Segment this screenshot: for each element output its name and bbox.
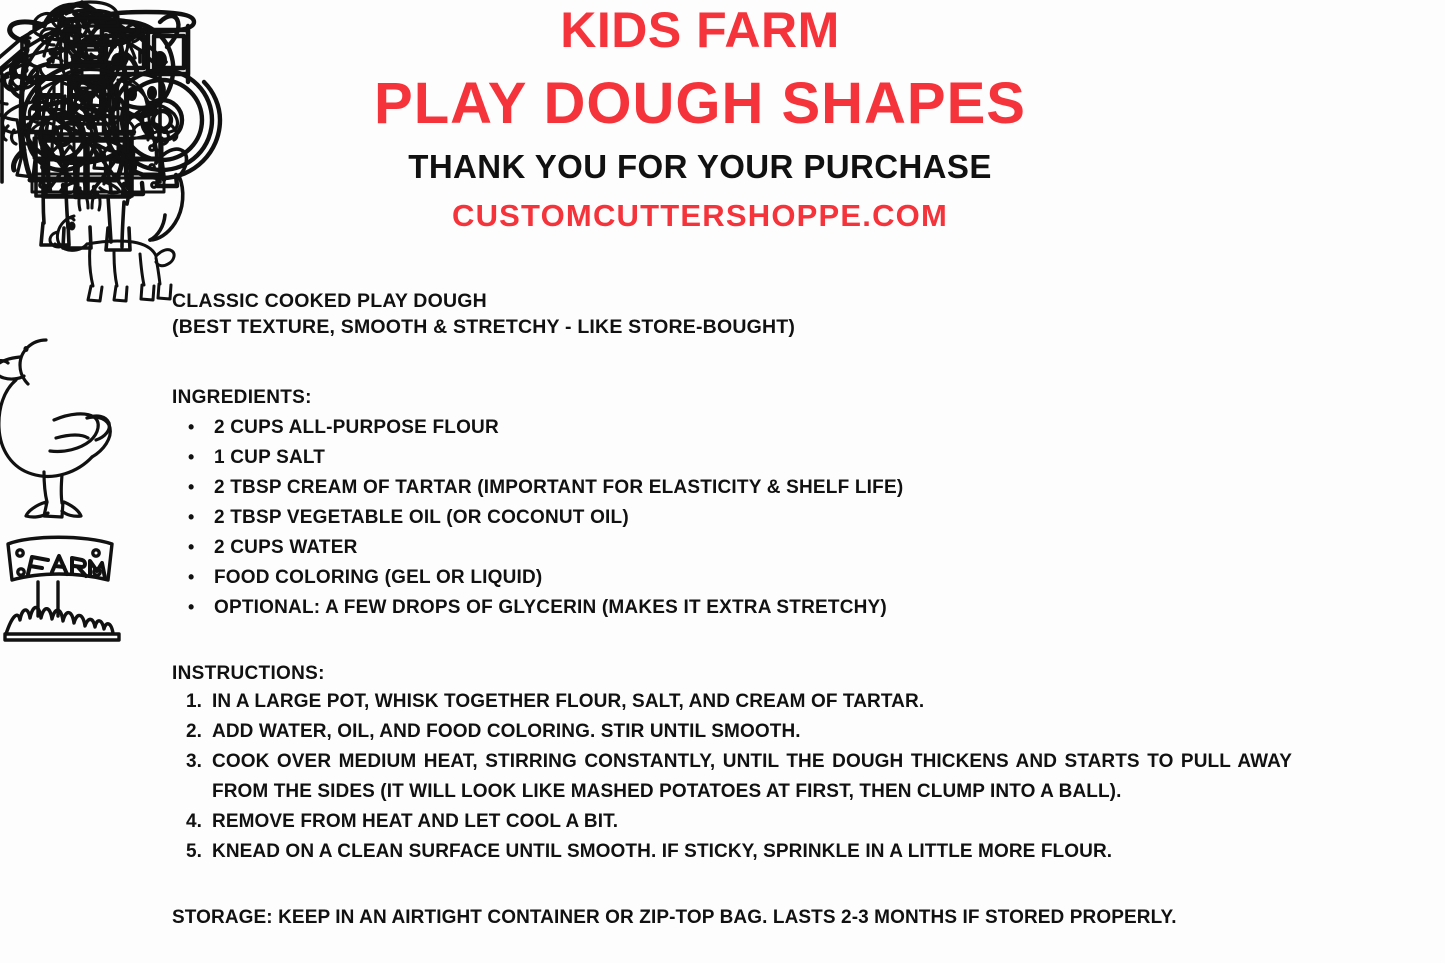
- recipe-content: CLASSIC COOKED PLAY DOUGH (BEST TEXTURE,…: [172, 288, 1292, 933]
- flyer-page: KIDS FARM PLAY DOUGH SHAPES THANK YOU FO…: [0, 0, 1445, 963]
- list-item: IN A LARGE POT, WHISK TOGETHER FLOUR, SA…: [172, 687, 1292, 717]
- scarecrow-icon: [0, 0, 182, 185]
- ingredients-heading: INGREDIENTS:: [172, 387, 1292, 409]
- list-item: 2 CUPS WATER: [172, 533, 1292, 563]
- page-title-line1: KIDS FARM: [170, 4, 1230, 57]
- instructions-list: IN A LARGE POT, WHISK TOGETHER FLOUR, SA…: [172, 687, 1292, 867]
- list-item: FOOD COLORING (GEL OR LIQUID): [172, 563, 1292, 593]
- list-item: COOK OVER MEDIUM HEAT, STIRRING CONSTANT…: [172, 747, 1292, 807]
- website-url: CUSTOMCUTTERSHOPPE.COM: [170, 198, 1230, 234]
- page-title-line2: PLAY DOUGH SHAPES: [170, 73, 1230, 134]
- instructions-heading: INSTRUCTIONS:: [172, 663, 1292, 685]
- header: KIDS FARM PLAY DOUGH SHAPES THANK YOU FO…: [170, 4, 1230, 234]
- ingredients-section: INGREDIENTS: 2 CUPS ALL-PURPOSE FLOUR 1 …: [172, 387, 1292, 623]
- farm-sign-icon: [2, 512, 134, 642]
- list-item: ADD WATER, OIL, AND FOOD COLORING. STIR …: [172, 717, 1292, 747]
- list-item: 2 CUPS ALL-PURPOSE FLOUR: [172, 413, 1292, 443]
- thank-you-message: THANK YOU FOR YOUR PURCHASE: [170, 148, 1230, 186]
- list-item: REMOVE FROM HEAT AND LET COOL A BIT.: [172, 807, 1292, 837]
- list-item: 2 TBSP VEGETABLE OIL (OR COCONUT OIL): [172, 503, 1292, 533]
- recipe-description: (BEST TEXTURE, SMOOTH & STRETCHY - LIKE …: [172, 314, 1292, 340]
- recipe-title: CLASSIC COOKED PLAY DOUGH: [172, 288, 1292, 314]
- list-item: 2 TBSP CREAM OF TARTAR (IMPORTANT FOR EL…: [172, 473, 1292, 503]
- instructions-section: INSTRUCTIONS: IN A LARGE POT, WHISK TOGE…: [172, 663, 1292, 867]
- ingredients-list: 2 CUPS ALL-PURPOSE FLOUR 1 CUP SALT 2 TB…: [172, 413, 1292, 623]
- list-item: 1 CUP SALT: [172, 443, 1292, 473]
- storage-note: STORAGE: KEEP IN AN AIRTIGHT CONTAINER O…: [172, 903, 1284, 933]
- duck-icon: [0, 320, 144, 520]
- list-item: OPTIONAL: A FEW DROPS OF GLYCERIN (MAKES…: [172, 593, 1292, 623]
- list-item: KNEAD ON A CLEAN SURFACE UNTIL SMOOTH. I…: [172, 837, 1292, 867]
